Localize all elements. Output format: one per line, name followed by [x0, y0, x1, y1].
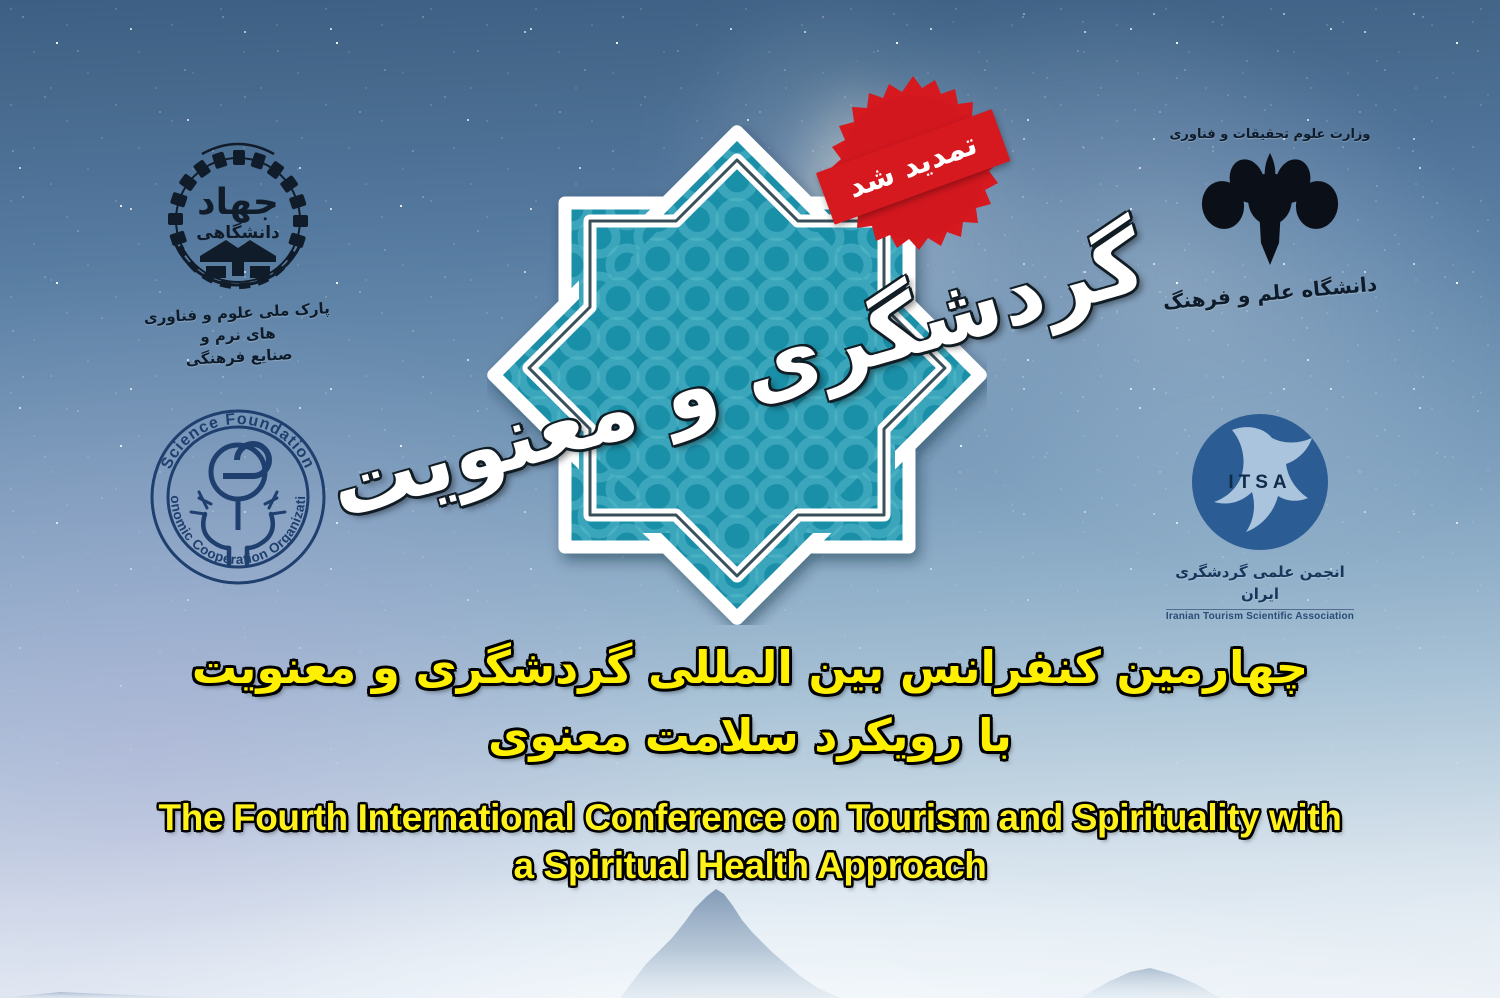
itsa-caption-fa: انجمن علمی گردشگری ایران: [1160, 562, 1360, 606]
itsa-monogram: ITSA: [1228, 472, 1291, 493]
svg-text:جهاد: جهاد: [197, 182, 279, 223]
title-block: چهارمین کنفرانس بین المللی گردشگری و معن…: [0, 636, 1500, 890]
svg-text:Science Foundation: Science Foundation: [158, 411, 317, 472]
persian-title-line-2: با رویکرد سلامت معنوی: [0, 704, 1500, 768]
extended-stamp: تمدید شد: [818, 72, 1008, 262]
eco-arc-top-text: Science Foundation: [158, 411, 317, 472]
persian-title: چهارمین کنفرانس بین المللی گردشگری و معن…: [0, 636, 1500, 768]
eco-science-foundation-icon: Science Foundation Economic Cooperation …: [145, 404, 331, 590]
logo-msrt-usc: وزارت علوم تحقیقات و فناوری دانشگاه علم …: [1160, 126, 1380, 308]
english-title: The Fourth International Conference on T…: [0, 794, 1500, 890]
persian-title-line-1: چهارمین کنفرانس بین المللی گردشگری و معن…: [0, 636, 1500, 700]
english-title-line-2: a Spiritual Health Approach: [0, 842, 1500, 890]
msrt-caption-top: وزارت علوم تحقیقات و فناوری: [1160, 126, 1380, 145]
logo-jahad-daneshgahi: جهاد دانشگاهی پارک ملی علوم و فناوری های…: [128, 128, 348, 368]
logo-eco-science-foundation: Science Foundation Economic Cooperation …: [140, 404, 336, 595]
svg-text:دانشگاهی: دانشگاهی: [196, 222, 280, 243]
logo-itsa: ITSA انجمن علمی گردشگری ایران Iranian To…: [1160, 402, 1360, 624]
msrt-tulip-icon: [1185, 147, 1355, 277]
itsa-caption-en: Iranian Tourism Scientific Association: [1166, 609, 1354, 622]
jahad-daneshgahi-icon: جهاد دانشگاهی: [140, 128, 336, 296]
conference-poster: گردشگری و معنویت تمدید شد: [0, 0, 1500, 998]
itsa-bird-icon: ITSA: [1180, 402, 1340, 562]
english-title-line-1: The Fourth International Conference on T…: [0, 794, 1500, 842]
